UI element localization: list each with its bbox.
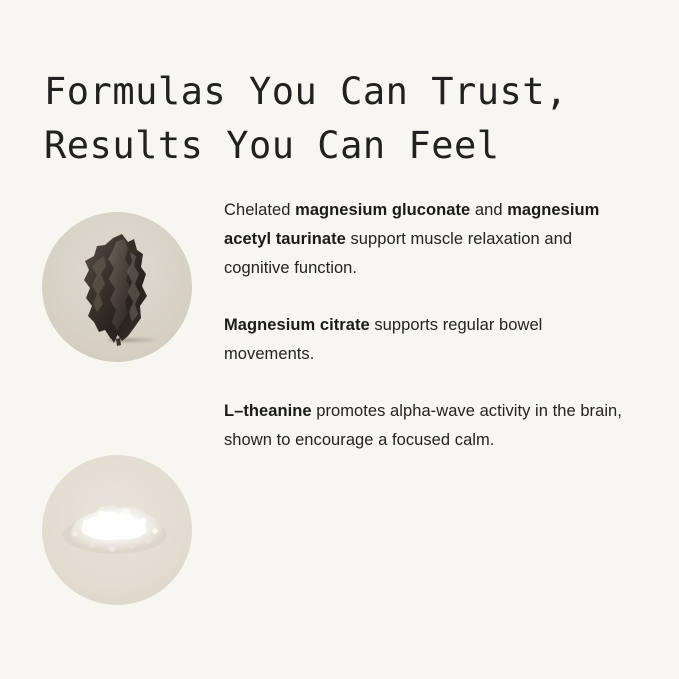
benefit-paragraph-magnesium-citrate: Magnesium citrate supports regular bowel… (224, 311, 624, 369)
powder-illustration (42, 455, 192, 605)
benefit-text-plain: and (470, 201, 507, 219)
powder-shape-icon (42, 455, 192, 605)
ingredient-l-theanine: L–theanine (224, 402, 312, 420)
ingredient-magnesium-gluconate: magnesium gluconate (295, 201, 470, 219)
benefit-paragraph-magnesium-blend: Chelated magnesium gluconate and magnesi… (224, 196, 624, 283)
page-title: Formulas You Can Trust, Results You Can … (44, 65, 644, 173)
ingredient-magnesium-citrate: Magnesium citrate (224, 316, 370, 334)
mineral-shape-icon (42, 212, 192, 362)
benefits-text-column: Chelated magnesium gluconate and magnesi… (224, 196, 624, 455)
benefit-paragraph-l-theanine: L–theanine promotes alpha-wave activity … (224, 397, 624, 455)
mineral-illustration (42, 212, 192, 362)
benefit-text-plain: Chelated (224, 201, 295, 219)
white-powder-photo (42, 455, 192, 605)
marketing-panel: Formulas You Can Trust, Results You Can … (0, 0, 679, 679)
magnesium-mineral-photo (42, 212, 192, 362)
